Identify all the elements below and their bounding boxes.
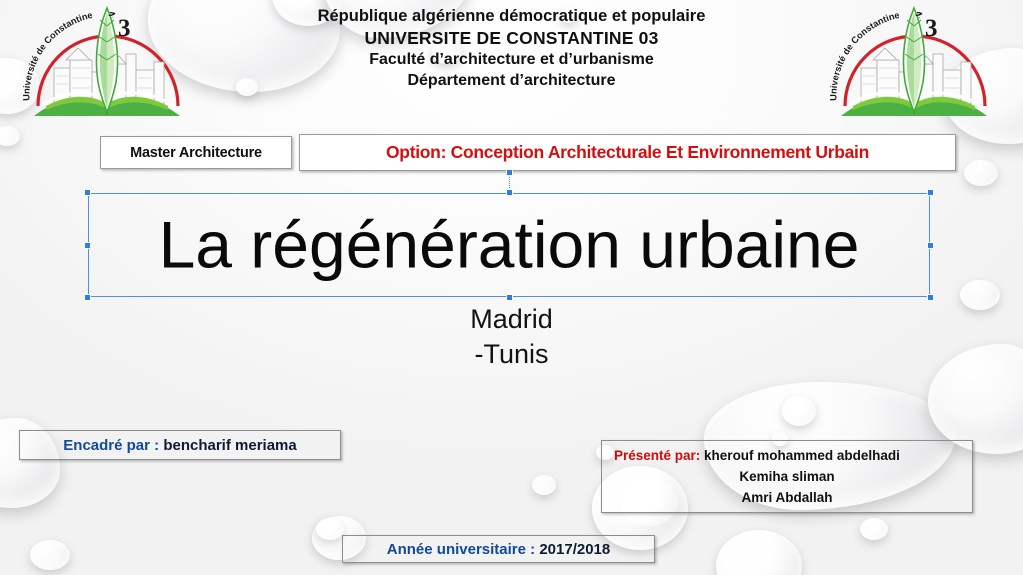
academic-year-label: Année universitaire : (387, 541, 540, 558)
subtitle-block: Madrid -Tunis (0, 302, 1023, 371)
resize-handle-bottom-right[interactable] (927, 294, 934, 301)
bubble-tiny-topright (560, 8, 578, 23)
svg-text:3: 3 (925, 15, 938, 42)
resize-handle-middle-right[interactable] (927, 242, 934, 249)
bubble-small-rightedge (964, 160, 998, 186)
resize-handle-top-left[interactable] (84, 189, 91, 196)
option-label: Option: Conception Architecturale Et Env… (386, 142, 869, 163)
bubble-medium-topcenter (272, 0, 344, 26)
presenter-name-2: Kemiha sliman (614, 467, 960, 488)
main-title: La régénération urbaine (88, 211, 930, 278)
supervisor-box[interactable]: Encadré par : bencharif meriama (19, 430, 341, 460)
bubble-tiny-leftedge (0, 126, 20, 146)
svg-text:جامعة قسنطينة: جامعة قسنطينة (815, 2, 923, 19)
bubble-small-bottomcenter (860, 518, 888, 540)
bubble-large-bottomleftcenter (716, 530, 802, 575)
resize-handle-top-right[interactable] (927, 189, 934, 196)
presenters-label: Présenté par: (614, 448, 704, 463)
academic-year-value: 2017/2018 (539, 541, 610, 558)
resize-handle-top-middle[interactable] (506, 189, 513, 196)
presenter-name-3: Amri Abdallah (614, 488, 960, 509)
svg-text:3: 3 (118, 15, 131, 42)
bubble-small-nearyear (316, 518, 344, 540)
subtitle-line-madrid: Madrid (0, 302, 1023, 337)
presenters-box[interactable]: Présenté par: kherouf mohammed abdelhadi… (601, 440, 973, 513)
university-logo-right: 3 Université de Constantine جامعة قسنطين… (815, 2, 1015, 120)
presentation-slide: 3 Université de Constantine جامعة قسنطين… (0, 0, 1023, 575)
option-box[interactable]: Option: Conception Architecturale Et Env… (299, 134, 956, 171)
bubble-small-midcenter (532, 475, 556, 495)
svg-text:جامعة قسنطينة: جامعة قسنطينة (8, 2, 116, 19)
bubble-small-topmid (432, 40, 462, 64)
bubble-medium-bottomcenter (782, 396, 816, 426)
bubble-small-topleft-a (236, 78, 258, 96)
bubble-large-topmid (322, 0, 472, 38)
title-textbox[interactable]: La régénération urbaine (88, 193, 930, 297)
resize-handle-bottom-left[interactable] (84, 294, 91, 301)
supervisor-name: bencharif meriama (163, 437, 296, 454)
academic-year-box[interactable]: Année universitaire : 2017/2018 (342, 535, 655, 563)
subtitle-line-tunis: -Tunis (0, 337, 1023, 372)
resize-handle-middle-left[interactable] (84, 242, 91, 249)
master-architecture-label: Master Architecture (130, 145, 262, 161)
rotation-handle[interactable] (506, 169, 513, 176)
master-architecture-box[interactable]: Master Architecture (100, 136, 292, 169)
presenter-name-1: kherouf mohammed abdelhadi (704, 448, 900, 463)
presenter-row-1: Présenté par: kherouf mohammed abdelhadi (614, 446, 960, 467)
university-logo-left: 3 Université de Constantine جامعة قسنطين… (8, 2, 208, 120)
resize-handle-bottom-middle[interactable] (506, 294, 513, 301)
bubble-small-bottomleft (30, 540, 70, 570)
supervisor-label: Encadré par : (63, 437, 163, 454)
